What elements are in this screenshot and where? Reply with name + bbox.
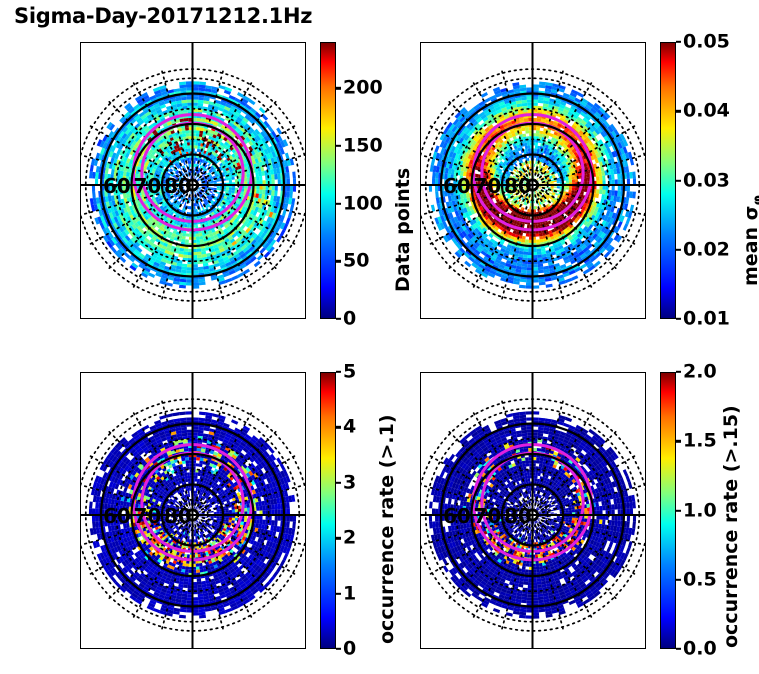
- figure-canvas: Sigma-Day-20171212.1Hz 607080 0 50 100 1…: [0, 0, 759, 674]
- colorbar-4-tick-4: [676, 371, 681, 373]
- colorbar-2-ticklabel-3: 0.04: [683, 102, 730, 121]
- colorbar-1-tick-1: [336, 260, 341, 262]
- polar-plot-occurrence-rate-015: 607080: [420, 372, 646, 649]
- colorbar-4-tick-3: [676, 440, 681, 442]
- latitude-label-80: 80: [504, 174, 532, 198]
- colorbar-1-tick-0: [336, 318, 341, 320]
- colorbar-1-tick-4: [336, 87, 341, 89]
- latitude-label-70: 70: [134, 504, 162, 528]
- colorbar-occurrence-rate-01: 0 1 2 3 4 5 occurrence rate (>.1): [320, 372, 336, 649]
- colorbar-2-label-text: mean σ: [740, 206, 759, 286]
- colorbar-2-tick-1: [676, 249, 681, 251]
- colorbar-2-label: mean σφ: [742, 195, 759, 286]
- colorbar-data-points: 0 50 100 150 200 Data points: [320, 42, 336, 319]
- latitude-label-70: 70: [474, 174, 502, 198]
- colorbar-4-ticklabel-0: 0.0: [683, 640, 717, 659]
- colorbar-2-tick-2: [676, 179, 681, 181]
- colorbar-1-tick-3: [336, 145, 341, 147]
- colorbar-1-ticklabel-0: 0: [343, 310, 356, 329]
- latitude-label-80: 80: [164, 504, 192, 528]
- colorbar-mean-sigma-phi: 0.01 0.02 0.03 0.04 0.05 mean σφ: [660, 42, 676, 319]
- colorbar-4-tick-1: [676, 579, 681, 581]
- colorbar-4-gradient: [660, 372, 676, 649]
- colorbar-3-tick-3: [336, 482, 341, 484]
- colorbar-2-tick-4: [676, 41, 681, 43]
- colorbar-3-tick-4: [336, 426, 341, 428]
- colorbar-1-gradient: [320, 42, 336, 319]
- colorbar-occurrence-rate-015: 0.0 0.5 1.0 1.5 2.0 occurrence rate (>.1…: [660, 372, 676, 649]
- colorbar-2-ticklabel-4: 0.05: [683, 33, 730, 52]
- polar-plot-data-points: 607080: [80, 42, 306, 319]
- latitude-label-60: 60: [443, 504, 471, 528]
- latitude-label-80: 80: [504, 504, 532, 528]
- colorbar-3-ticklabel-1: 1: [343, 584, 356, 603]
- polar-plot-mean-sigma-phi: 607080: [420, 42, 646, 319]
- colorbar-1-ticklabel-1: 50: [343, 252, 369, 271]
- colorbar-1-tick-2: [336, 202, 341, 204]
- figure-title: Sigma-Day-20171212.1Hz: [14, 4, 312, 28]
- colorbar-4-tick-2: [676, 509, 681, 511]
- latitude-label-80: 80: [164, 174, 192, 198]
- colorbar-3-tick-0: [336, 648, 341, 650]
- panel-occurrence-rate-015: 607080: [420, 372, 646, 649]
- colorbar-4-ticklabel-3: 1.5: [683, 432, 717, 451]
- colorbar-2-gradient: [660, 42, 676, 319]
- polar-plot-occurrence-rate-01: 607080: [80, 372, 306, 649]
- colorbar-2-tick-3: [676, 110, 681, 112]
- colorbar-4-ticklabel-1: 0.5: [683, 570, 717, 589]
- colorbar-1-ticklabel-2: 100: [343, 194, 383, 213]
- panel-mean-sigma-phi: 607080: [420, 42, 646, 319]
- colorbar-3-ticklabel-5: 5: [343, 363, 356, 382]
- colorbar-4-tick-0: [676, 648, 681, 650]
- colorbar-2-ticklabel-1: 0.02: [683, 240, 730, 259]
- colorbar-3-gradient: [320, 372, 336, 649]
- latitude-label-60: 60: [443, 174, 471, 198]
- panel-data-points: 607080: [80, 42, 306, 319]
- colorbar-3-ticklabel-0: 0: [343, 640, 356, 659]
- latitude-label-70: 70: [134, 174, 162, 198]
- panel-occurrence-rate-01: 607080: [80, 372, 306, 649]
- colorbar-2-tick-0: [676, 318, 681, 320]
- colorbar-3-tick-5: [336, 371, 341, 373]
- colorbar-1-ticklabel-3: 150: [343, 136, 383, 155]
- colorbar-3-ticklabel-4: 4: [343, 418, 356, 437]
- colorbar-3-tick-2: [336, 537, 341, 539]
- latitude-label-70: 70: [474, 504, 502, 528]
- colorbar-2-ticklabel-2: 0.03: [683, 171, 730, 190]
- colorbar-3-ticklabel-2: 2: [343, 529, 356, 548]
- colorbar-3-label: occurrence rate (>.1): [378, 414, 397, 644]
- colorbar-1-label: Data points: [394, 168, 413, 292]
- latitude-label-60: 60: [103, 174, 131, 198]
- colorbar-4-ticklabel-4: 2.0: [683, 363, 717, 382]
- colorbar-2-label-sub: φ: [750, 195, 759, 206]
- colorbar-2-ticklabel-0: 0.01: [683, 310, 730, 329]
- colorbar-3-tick-1: [336, 592, 341, 594]
- colorbar-4-ticklabel-2: 1.0: [683, 501, 717, 520]
- colorbar-3-ticklabel-3: 3: [343, 473, 356, 492]
- colorbar-1-ticklabel-4: 200: [343, 79, 383, 98]
- colorbar-4-label: occurrence rate (>.15): [722, 405, 741, 648]
- latitude-label-60: 60: [103, 504, 131, 528]
